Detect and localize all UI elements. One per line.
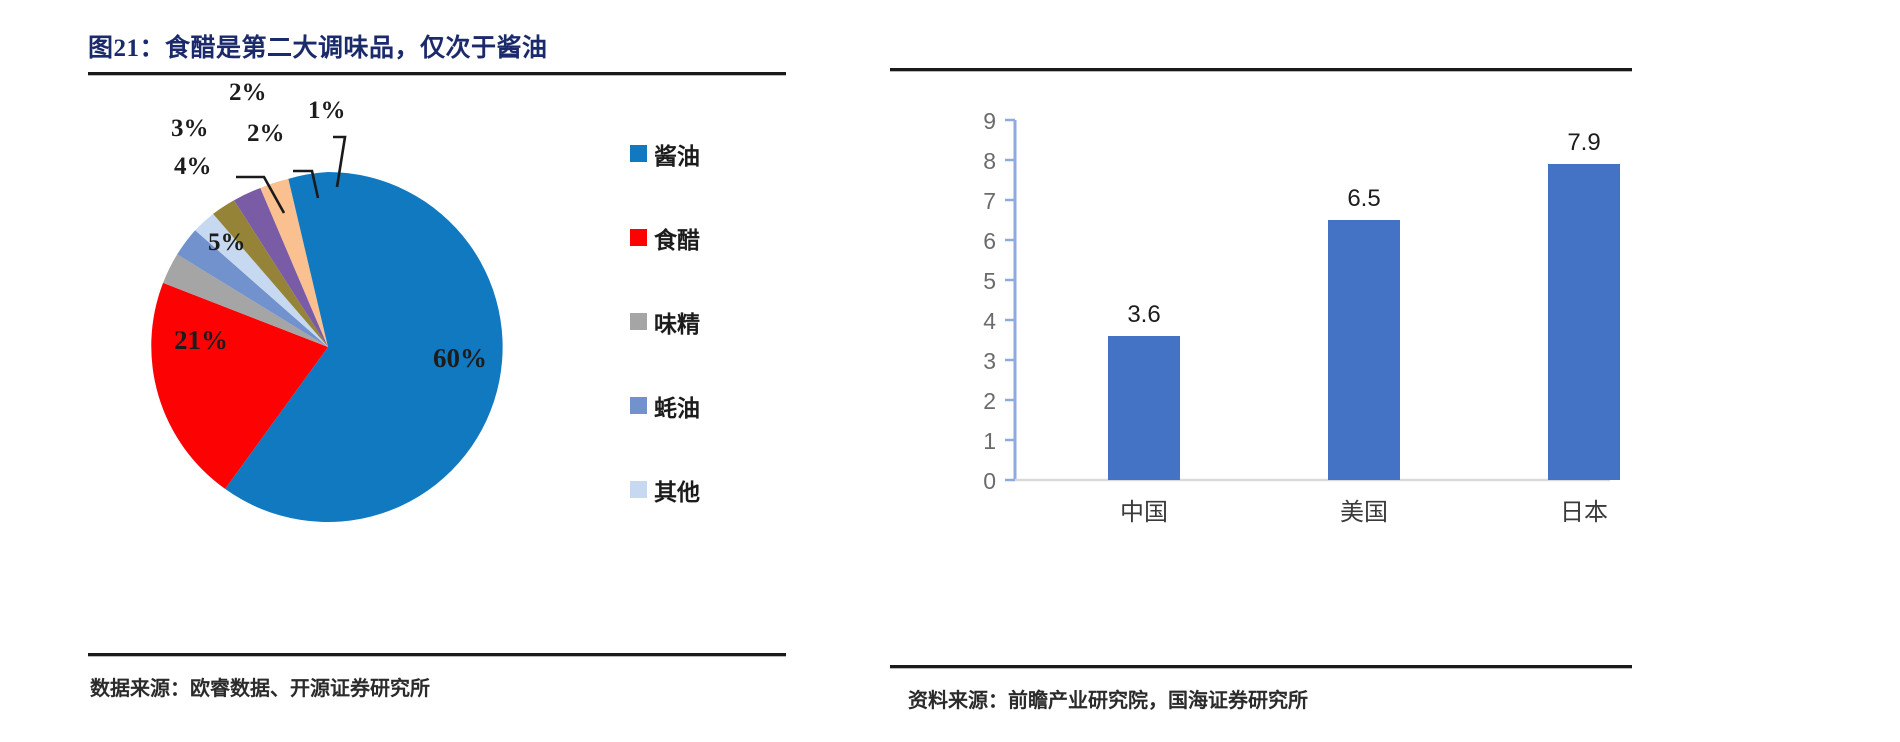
pie-label-4: 4%	[174, 153, 212, 181]
y-tick-label: 5	[983, 268, 996, 294]
y-axis-labels: 9 8 7 6 5 4 3 2 1 0	[983, 108, 996, 494]
divider-top-right	[890, 68, 1632, 72]
legend-label: 其他	[654, 473, 700, 507]
y-tick-label: 6	[983, 228, 996, 254]
left-figure-panel: 图21：食醋是第二大调味品，仅次于酱油	[88, 0, 788, 742]
bar-value-label: 3.6	[1127, 301, 1160, 328]
legend-item-qita: 其他	[630, 476, 790, 503]
divider-bottom-right	[890, 665, 1632, 669]
legend-item-jiangyou: 酱油	[630, 140, 790, 167]
x-tick-label: 美国	[1340, 499, 1388, 526]
divider-top-left	[88, 72, 786, 76]
legend-swatch-icon	[630, 229, 647, 246]
y-tick-label: 9	[983, 108, 996, 134]
pie-label-2a: 2%	[247, 120, 285, 148]
y-tick-label: 1	[983, 428, 996, 454]
x-tick-label: 中国	[1120, 499, 1168, 526]
y-tick-label: 2	[983, 388, 996, 414]
legend-swatch-icon	[630, 397, 647, 414]
legend-swatch-icon	[630, 313, 647, 330]
bar-japan	[1548, 164, 1620, 480]
y-tick-label: 3	[983, 348, 996, 374]
legend-swatch-icon	[630, 145, 647, 162]
right-figure-panel: 9 8 7 6 5 4 3 2 1 0 3.6 6	[890, 0, 1635, 742]
bar-china	[1108, 336, 1180, 480]
legend-item-shicu: 食醋	[630, 224, 790, 251]
bar-value-label: 6.5	[1347, 185, 1380, 212]
legend-swatch-icon	[630, 481, 647, 498]
bar-usa	[1328, 220, 1400, 480]
pie-label-1: 1%	[308, 97, 346, 125]
y-tick-label: 7	[983, 188, 996, 214]
pie-legend: 酱油 食醋 味精 蚝油 其他	[630, 140, 790, 560]
legend-item-haoyou: 蚝油	[630, 392, 790, 419]
page-title: 图21：食醋是第二大调味品，仅次于酱油	[88, 28, 548, 64]
legend-label: 酱油	[654, 137, 700, 171]
x-axis-labels: 中国 美国 日本	[1120, 499, 1608, 526]
pie-label-21: 21%	[174, 325, 228, 356]
y-tick-label: 8	[983, 148, 996, 174]
y-tick-label: 4	[983, 308, 996, 334]
divider-bottom-left	[88, 653, 786, 657]
figure-page: 图21：食醋是第二大调味品，仅次于酱油	[0, 0, 1900, 742]
x-tick-label: 日本	[1560, 499, 1608, 526]
legend-label: 味精	[654, 305, 700, 339]
legend-label: 食醋	[654, 221, 700, 255]
legend-item-weijing: 味精	[630, 308, 790, 335]
pie-label-2b: 2%	[229, 79, 267, 107]
legend-label: 蚝油	[654, 389, 700, 423]
pie-label-60: 60%	[433, 343, 487, 374]
bar-chart: 9 8 7 6 5 4 3 2 1 0 3.6 6	[900, 108, 1630, 538]
bar-value-label: 7.9	[1567, 129, 1600, 156]
pie-chart: 60% 21% 5% 4% 3% 2% 2% 1%	[118, 125, 538, 545]
bar-chart-svg: 9 8 7 6 5 4 3 2 1 0 3.6 6	[900, 108, 1630, 538]
source-note-right: 资料来源：前瞻产业研究院，国海证券研究所	[908, 684, 1308, 713]
pie-label-3: 3%	[171, 115, 209, 143]
source-note-left: 数据来源：欧睿数据、开源证券研究所	[90, 672, 430, 701]
y-tick-label: 0	[983, 468, 996, 494]
pie-label-5: 5%	[208, 229, 246, 257]
